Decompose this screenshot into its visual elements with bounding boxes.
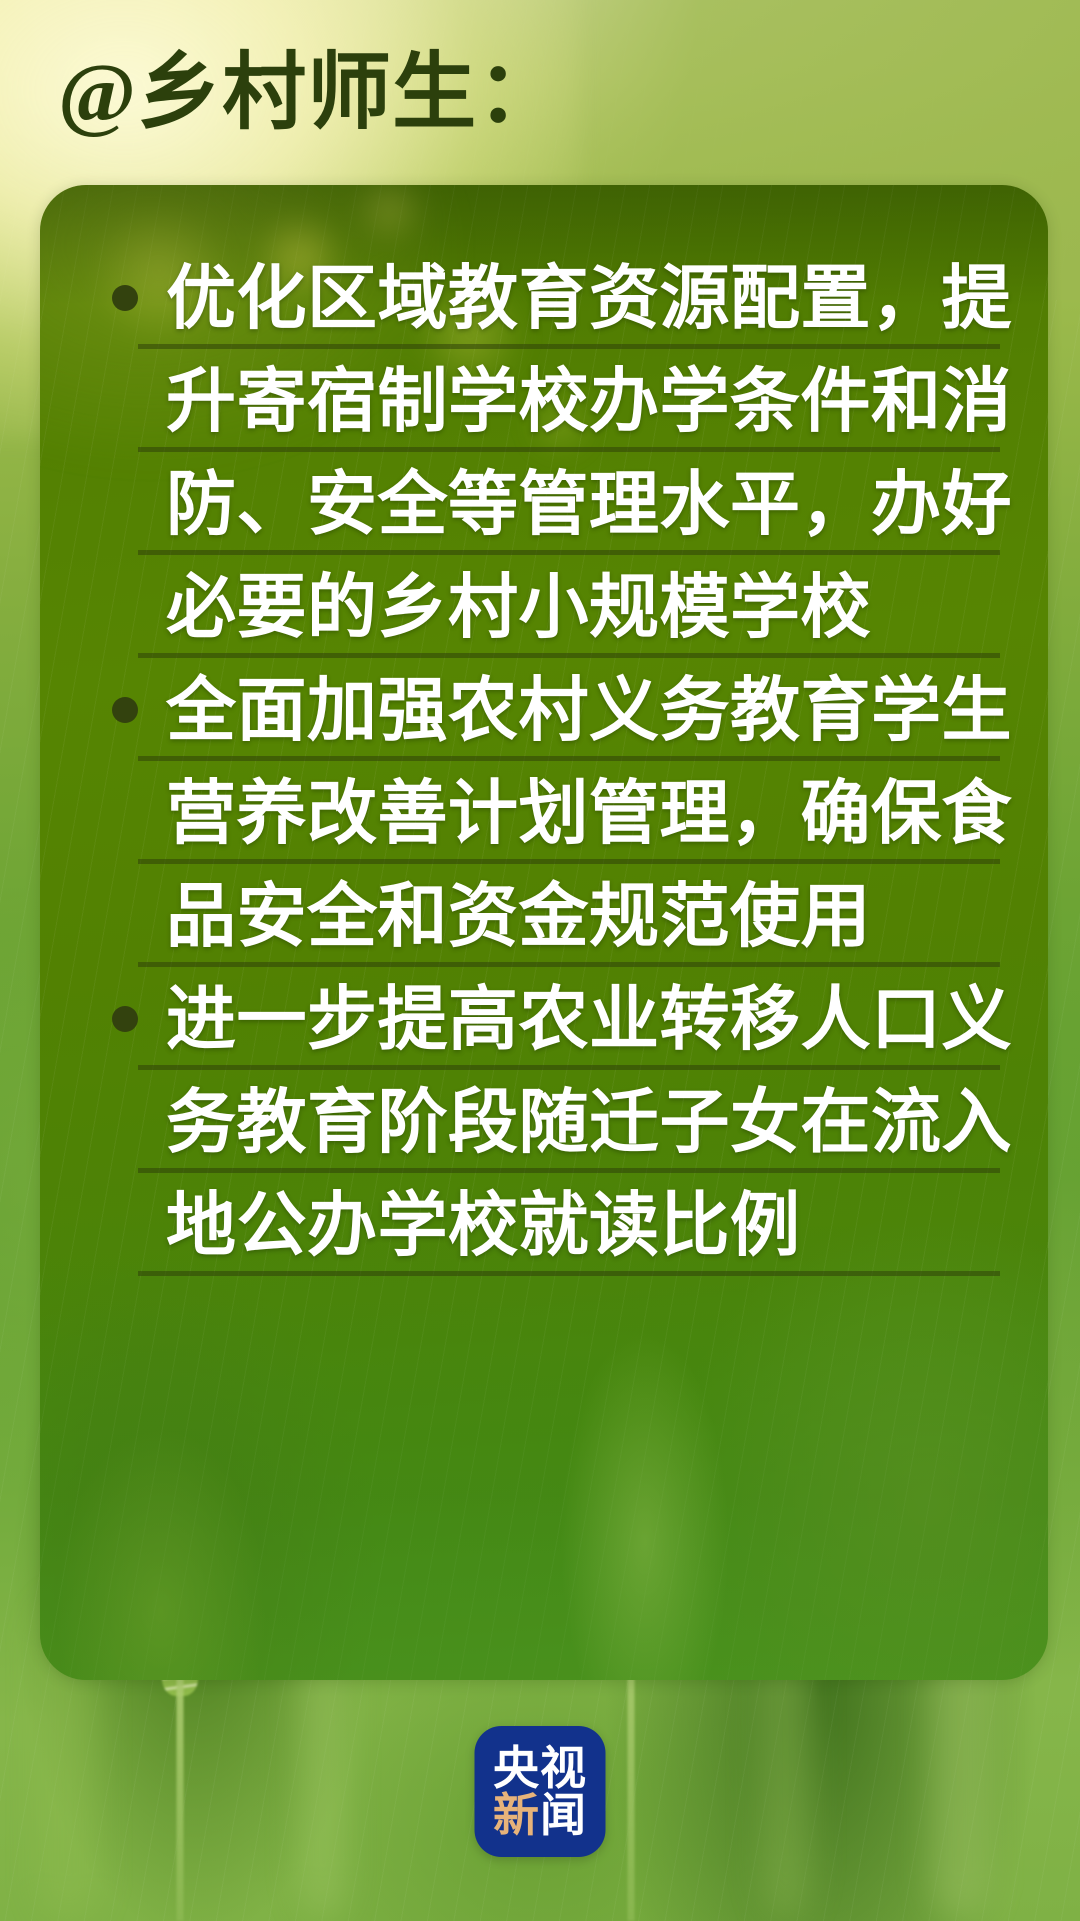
logo-text-plain: 闻 bbox=[540, 1789, 587, 1841]
list-item: 品安全和资金规范使用 bbox=[110, 864, 1000, 967]
bullet-dot-icon bbox=[112, 1006, 138, 1032]
list-item: 地公办学校就读比例 bbox=[110, 1173, 1000, 1276]
bullet-line-text: 品安全和资金规范使用 bbox=[166, 881, 871, 951]
bullet-line-text: 优化区域教育资源配置，提 bbox=[166, 263, 1012, 333]
bullet-dot-icon bbox=[112, 697, 138, 723]
logo-text-accent: 新 bbox=[493, 1789, 540, 1841]
list-item: 必要的乡村小规模学校 bbox=[110, 555, 1000, 658]
bullet-line-text: 必要的乡村小规模学校 bbox=[166, 572, 871, 642]
bullet-line-text: 升寄宿制学校办学条件和消 bbox=[166, 366, 1012, 436]
logo-text-top: 央视 bbox=[493, 1745, 587, 1792]
list-item: 防、安全等管理水平，办好 bbox=[110, 452, 1000, 555]
poster-root: @乡村师生： 优化区域教育资源配置，提 升寄宿制学校办学条件和消 防、安全等管理… bbox=[0, 0, 1080, 1921]
bullet-line-text: 防、安全等管理水平，办好 bbox=[166, 469, 1012, 539]
bullet-line-text: 进一步提高农业转移人口义 bbox=[166, 984, 1012, 1054]
cctv-news-logo[interactable]: 央视 新闻 bbox=[475, 1726, 606, 1857]
logo-text-bottom: 新闻 bbox=[493, 1792, 587, 1839]
bullet-line-text: 全面加强农村义务教育学生 bbox=[166, 675, 1012, 745]
content-card: 优化区域教育资源配置，提 升寄宿制学校办学条件和消 防、安全等管理水平，办好 必… bbox=[40, 185, 1048, 1680]
list-item: 优化区域教育资源配置，提 bbox=[110, 246, 1000, 349]
list-item: 升寄宿制学校办学条件和消 bbox=[110, 349, 1000, 452]
list-item: 营养改善计划管理，确保食 bbox=[110, 761, 1000, 864]
bullet-list: 优化区域教育资源配置，提 升寄宿制学校办学条件和消 防、安全等管理水平，办好 必… bbox=[40, 246, 1048, 1276]
list-item: 进一步提高农业转移人口义 bbox=[110, 967, 1000, 1070]
bullet-line-text: 地公办学校就读比例 bbox=[166, 1190, 801, 1260]
list-item: 全面加强农村义务教育学生 bbox=[110, 658, 1000, 761]
poster-header: @乡村师生： bbox=[58, 34, 998, 154]
page-title: @乡村师生： bbox=[58, 52, 562, 136]
bullet-line-text: 营养改善计划管理，确保食 bbox=[166, 778, 1012, 848]
list-item: 务教育阶段随迁子女在流入 bbox=[110, 1070, 1000, 1173]
bullet-dot-icon bbox=[112, 285, 138, 311]
bullet-line-text: 务教育阶段随迁子女在流入 bbox=[166, 1087, 1012, 1157]
card-wheat-overlay bbox=[40, 1220, 1048, 1680]
